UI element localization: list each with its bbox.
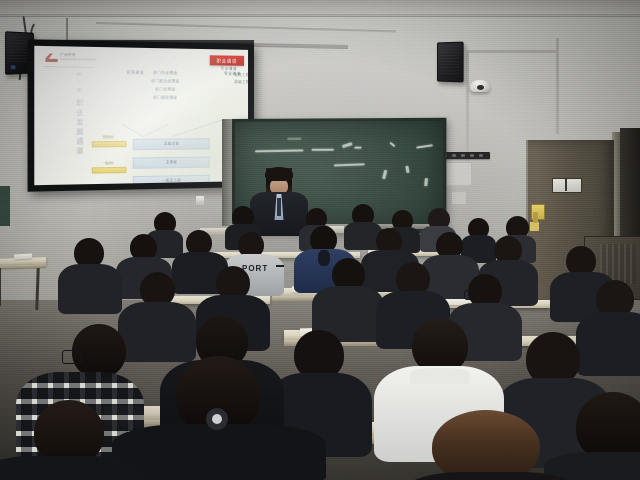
stack-box-2: 一般员工级 (133, 175, 210, 185)
right-node-1: 高级工程师 (224, 79, 248, 86)
presenter-tie (277, 198, 281, 216)
slide-yellow-label-0 (92, 141, 127, 148)
wall-marking (452, 192, 466, 204)
slide-yellow-label-1 (92, 167, 127, 174)
classroom-photo: 广州汽车 GUANGZHOU AUTOMOBILE 职业通道 专业通道 4・6 … (0, 0, 640, 480)
door-sign-lower (530, 222, 539, 231)
slide-management-track: 管理通道 部门总经理级 ↑ 部门副总经理级 ↑ 部门经理级 ↑ 部门副经理级 (126, 70, 203, 100)
slide-professional-track: 专业通道 主任工程师 高级工程师 (224, 72, 248, 86)
door-handle[interactable] (533, 212, 538, 223)
projection-screen: 广州汽车 GUANGZHOU AUTOMOBILE 职业通道 专业通道 4・6 … (28, 39, 254, 191)
desk-leg (0, 268, 1, 306)
door-window (552, 178, 582, 193)
track-head-left: 管理通道 (126, 70, 144, 75)
chain-node-3: 部门副经理级 (126, 95, 203, 101)
slide-logo-rule (43, 66, 94, 68)
slide-logo: 广州汽车 GUANGZHOU AUTOMOBILE (45, 53, 95, 62)
conduit-pipe-right-horizontal (466, 50, 558, 53)
stack-box-1: 主管级 (133, 157, 210, 169)
slide-banner-red: 职业通道 (209, 55, 244, 66)
logo-line-1: 广州汽车 (60, 54, 96, 58)
board-left-fragment (0, 186, 10, 226)
track-head-right: 专业通道 (224, 72, 241, 77)
wall-notice-plate (442, 162, 472, 186)
stack-box-0: 高级主管 (133, 138, 210, 149)
eyeglasses-icon (464, 290, 478, 300)
slide-position-stack: 高级主管 ↓ 主管级 ↓ 一般员工级 (133, 138, 210, 185)
presentation-slide: 广州汽车 GUANGZHOU AUTOMOBILE 职业通道 专业通道 4・6 … (34, 46, 248, 185)
ceiling-shadow (0, 14, 640, 18)
logo-line-2: GUANGZHOU AUTOMOBILE (60, 59, 96, 62)
slide-vertical-title: 4・6 职业发展通道 (73, 72, 82, 157)
slide-yellow-label-text-0: 管理岗位 (92, 136, 124, 139)
presenter-hair (265, 167, 293, 181)
chalk-cup (196, 196, 204, 205)
wall-speaker-right-icon (437, 42, 464, 83)
conduit-pipe-left (66, 18, 68, 42)
paper-on-desk (14, 254, 32, 260)
logo-mark-icon (45, 53, 57, 62)
door-window-mullion (565, 178, 567, 191)
stack-connector-1: ↓ (133, 170, 210, 174)
stack-connector-0: ↓ (133, 152, 210, 155)
camera-lens (477, 85, 484, 90)
slide-yellow-label-text-1: 一般岗位 (92, 162, 124, 166)
eyeglasses-icon (62, 350, 82, 364)
board-side-trim (222, 119, 232, 226)
